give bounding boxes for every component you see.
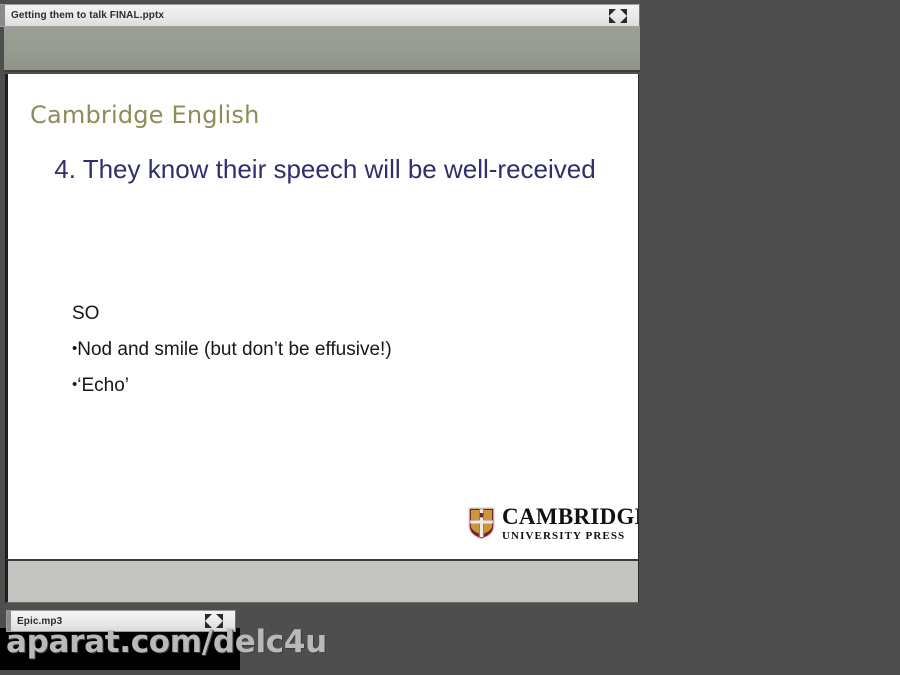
slide-body-lead: SO [72, 296, 592, 331]
contract-arrow-top-right [620, 9, 627, 16]
cup-wordmark-main: CAMBRIDGE [502, 505, 639, 528]
contract-arrow-top-left [609, 9, 616, 16]
presentation-window-title: Getting them to talk FINAL.pptx [5, 10, 607, 21]
cambridge-university-press-logo: CAMBRIDGE UNIVERSITY PRESS [468, 503, 639, 543]
slide-bullet-text: ‘Echo’ [77, 375, 129, 396]
cambridge-crest-icon [468, 507, 495, 540]
presentation-top-band [4, 27, 640, 72]
presentation-window-titlebar[interactable]: Getting them to talk FINAL.pptx [0, 4, 640, 27]
cup-wordmark: CAMBRIDGE UNIVERSITY PRESS [502, 505, 639, 542]
slide-brand-heading: Cambridge English [30, 101, 260, 129]
slide-bullet-text: Nod and smile (but don’t be effusive!) [77, 339, 391, 360]
slide-bullet-item: •Nod and smile (but don’t be effusive!) [72, 331, 592, 367]
cup-wordmark-sub: UNIVERSITY PRESS [502, 531, 639, 542]
presentation-slide: Cambridge English 4. They know their spe… [5, 74, 639, 559]
contract-arrow-bottom-right [620, 16, 627, 23]
presentation-bottom-band [5, 559, 639, 603]
site-watermark: aparat.com/delc4u [6, 624, 327, 660]
contract-arrow-bottom-left [609, 16, 616, 23]
contract-arrow-top-left [205, 614, 212, 621]
slide-title: 4. They know their speech will be well-r… [36, 152, 614, 186]
slide-bullet-item: •‘Echo’ [72, 367, 592, 403]
contract-arrows-icon[interactable] [607, 6, 629, 26]
slide-body: SO •Nod and smile (but don’t be effusive… [72, 296, 592, 403]
video-player-stage: Getting them to talk FINAL.pptx Cambridg… [0, 0, 900, 675]
contract-arrow-top-right [216, 614, 223, 621]
